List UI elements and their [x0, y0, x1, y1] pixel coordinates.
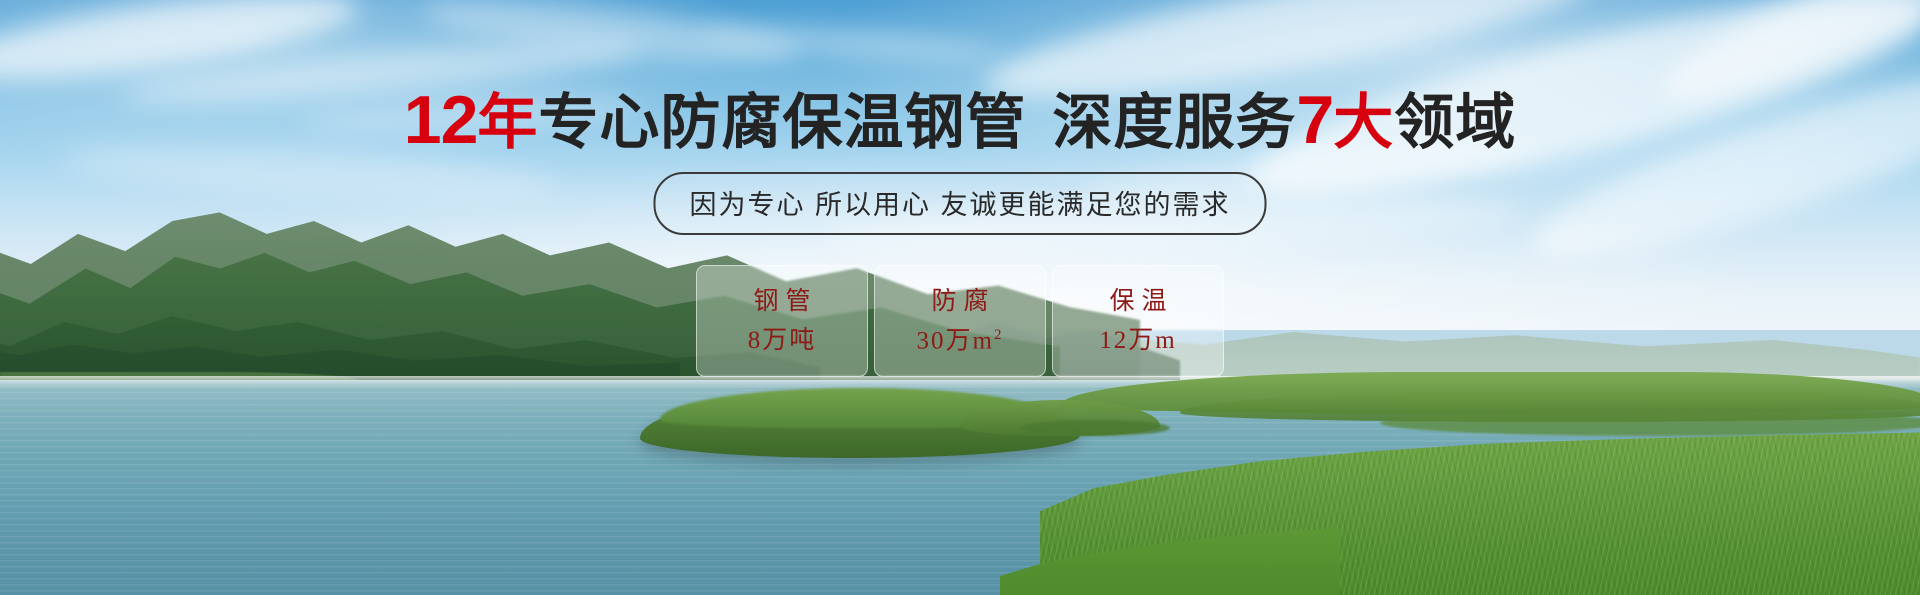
stat-card-value-main: 8万吨: [748, 327, 817, 354]
headline-fields-word: 领域: [1394, 89, 1516, 156]
stat-card-value: 12万m: [1099, 328, 1176, 353]
stat-card-label: 防腐: [924, 289, 995, 314]
banner-subtitle-pill: 因为专心 所以用心 友诚更能满足您的需求: [653, 172, 1266, 235]
headline-service-phrase: 深度服务: [1052, 89, 1296, 156]
stat-card-value-main: 12万m: [1099, 327, 1176, 354]
stat-card-label: 钢管: [746, 289, 817, 314]
headline-fields-number: 7: [1296, 82, 1333, 158]
stat-card-insulation[interactable]: 保温 12万m: [1052, 265, 1224, 377]
stat-card-anticorrosion[interactable]: 防腐 30万m2: [874, 265, 1046, 377]
stat-card-group: 钢管 8万吨 防腐 30万m2 保温 12万m: [696, 265, 1224, 377]
headline-years-number: 12: [404, 82, 478, 158]
stat-card-value: 30万m2: [917, 328, 1004, 353]
grass-island-tail: [1020, 420, 1170, 436]
stat-card-label: 保温: [1102, 289, 1173, 314]
headline-main-phrase: 专心防腐保温钢管: [538, 89, 1026, 156]
stat-card-steel-pipe[interactable]: 钢管 8万吨: [696, 265, 868, 377]
stat-card-value-main: 30万m: [917, 327, 994, 354]
headline-fields-unit: 大: [1333, 89, 1394, 156]
headline-years-unit: 年: [477, 89, 538, 156]
hero-banner: 12年专心防腐保温钢管深度服务7大领域 因为专心 所以用心 友诚更能满足您的需求…: [0, 0, 1920, 595]
stat-card-value-sup: 2: [994, 327, 1004, 343]
stat-card-value: 8万吨: [748, 328, 817, 353]
banner-headline: 12年专心防腐保温钢管深度服务7大领域: [0, 86, 1920, 154]
marsh-band: [1380, 410, 1920, 436]
